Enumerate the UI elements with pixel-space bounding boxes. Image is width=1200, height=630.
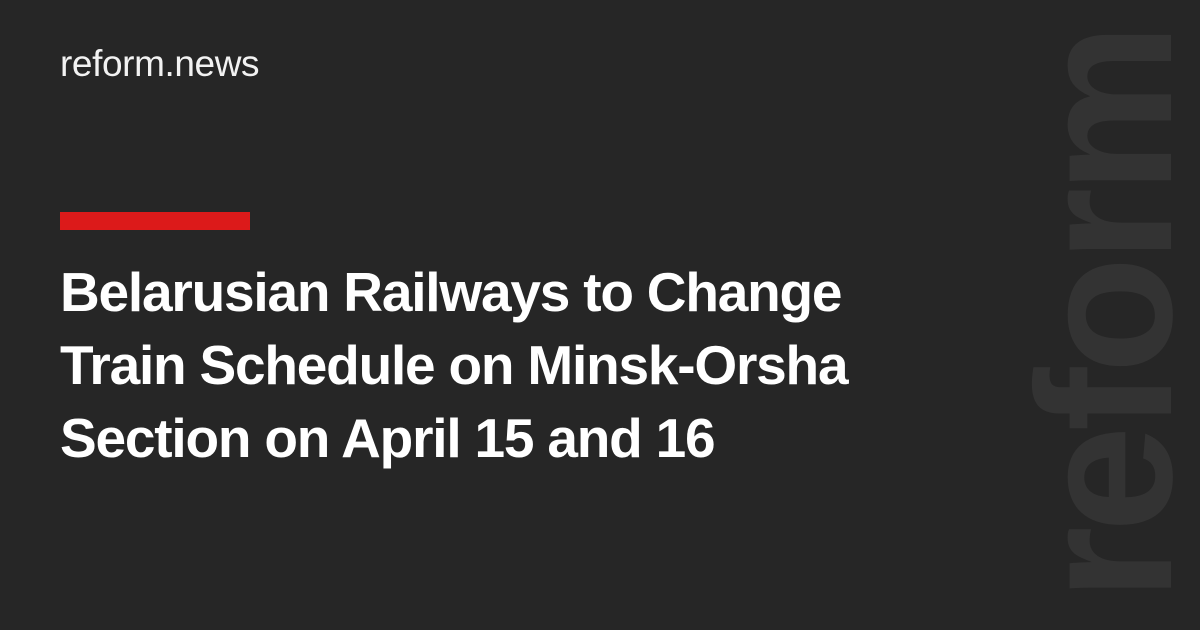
site-logo: reform.news [60,43,259,86]
social-share-card: reform reform.news Belarusian Railways t… [0,0,1200,630]
article-headline: Belarusian Railways to Change Train Sche… [60,256,960,475]
headline-line-2: Train Schedule on Minsk-Orsha [60,329,960,402]
watermark-container: reform [1010,0,1200,630]
headline-line-1: Belarusian Railways to Change [60,256,960,329]
card-content: reform.news Belarusian Railways to Chang… [60,0,980,630]
reform-watermark-text: reform [1010,29,1200,601]
red-accent-bar [60,212,250,230]
headline-line-3: Section on April 15 and 16 [60,402,960,475]
